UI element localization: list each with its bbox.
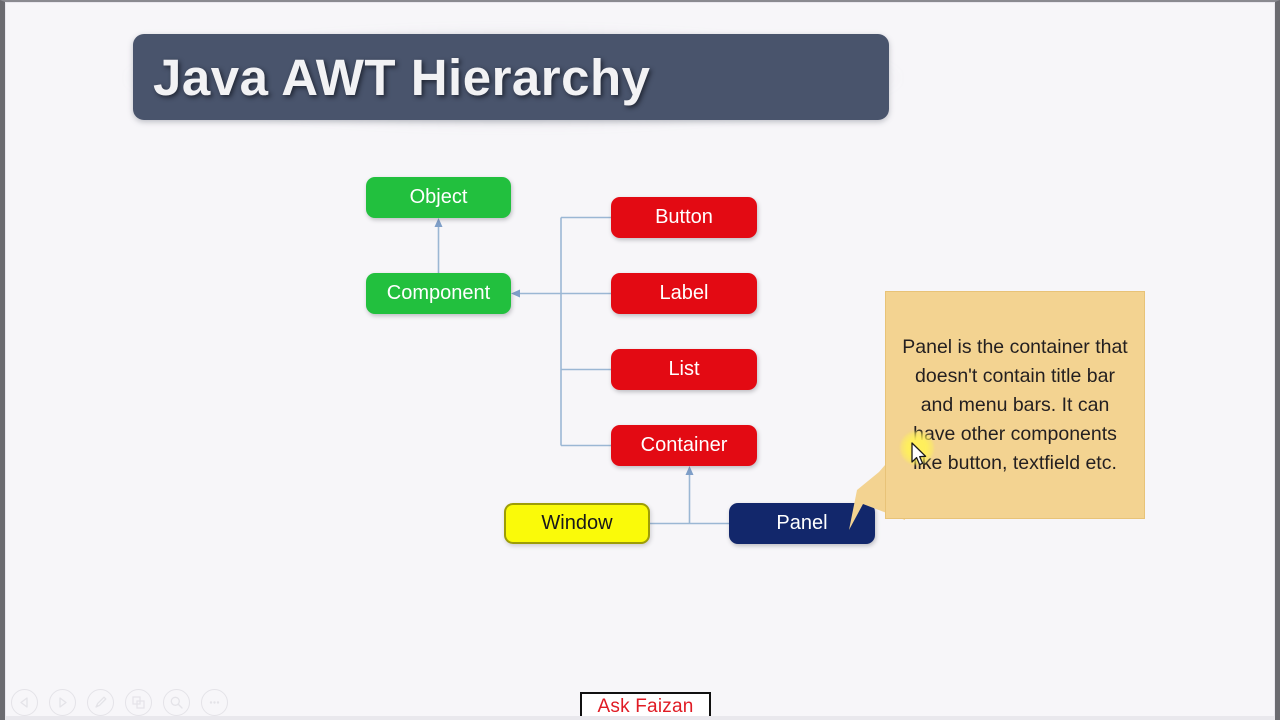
presentation-slide: Java AWT Hierarchy Object Component	[0, 0, 1280, 720]
diagram-node-container[interactable]: Container	[611, 425, 757, 466]
node-label: Panel	[776, 512, 827, 535]
zoom-tool-button[interactable]	[163, 689, 190, 716]
slides-overview-button[interactable]	[125, 689, 152, 716]
diagram-node-window[interactable]: Window	[504, 503, 650, 544]
node-label: Label	[660, 282, 709, 305]
page-title: Java AWT Hierarchy	[153, 48, 651, 107]
diagram-node-label[interactable]: Label	[611, 273, 757, 314]
node-label: Button	[655, 206, 713, 229]
diagram-node-list[interactable]: List	[611, 349, 757, 390]
ellipsis-icon	[207, 695, 222, 710]
diagram-node-button[interactable]: Button	[611, 197, 757, 238]
bottom-strip	[5, 716, 1275, 720]
triangle-right-icon	[56, 696, 69, 709]
previous-slide-button[interactable]	[11, 689, 38, 716]
callout-box: Panel is the container that doesn't cont…	[885, 291, 1145, 519]
diagram-node-object[interactable]: Object	[366, 177, 511, 218]
title-banner: Java AWT Hierarchy	[133, 34, 889, 120]
diagram-node-panel[interactable]: Panel	[729, 503, 875, 544]
pen-tool-button[interactable]	[87, 689, 114, 716]
triangle-left-icon	[18, 696, 31, 709]
slides-icon	[131, 695, 146, 710]
node-label: Window	[541, 512, 612, 535]
pen-icon	[93, 695, 108, 710]
more-options-button[interactable]	[201, 689, 228, 716]
watermark-text: Ask Faizan	[598, 696, 694, 718]
node-label: Component	[387, 282, 490, 305]
node-label: List	[668, 358, 699, 381]
node-label: Object	[410, 186, 468, 209]
diagram-node-component[interactable]: Component	[366, 273, 511, 314]
node-label: Container	[641, 434, 728, 457]
callout-text: Panel is the container that doesn't cont…	[898, 333, 1132, 478]
next-slide-button[interactable]	[49, 689, 76, 716]
magnifier-icon	[169, 695, 184, 710]
mouse-cursor-icon	[911, 442, 929, 468]
slideshow-toolbar[interactable]	[11, 689, 228, 716]
